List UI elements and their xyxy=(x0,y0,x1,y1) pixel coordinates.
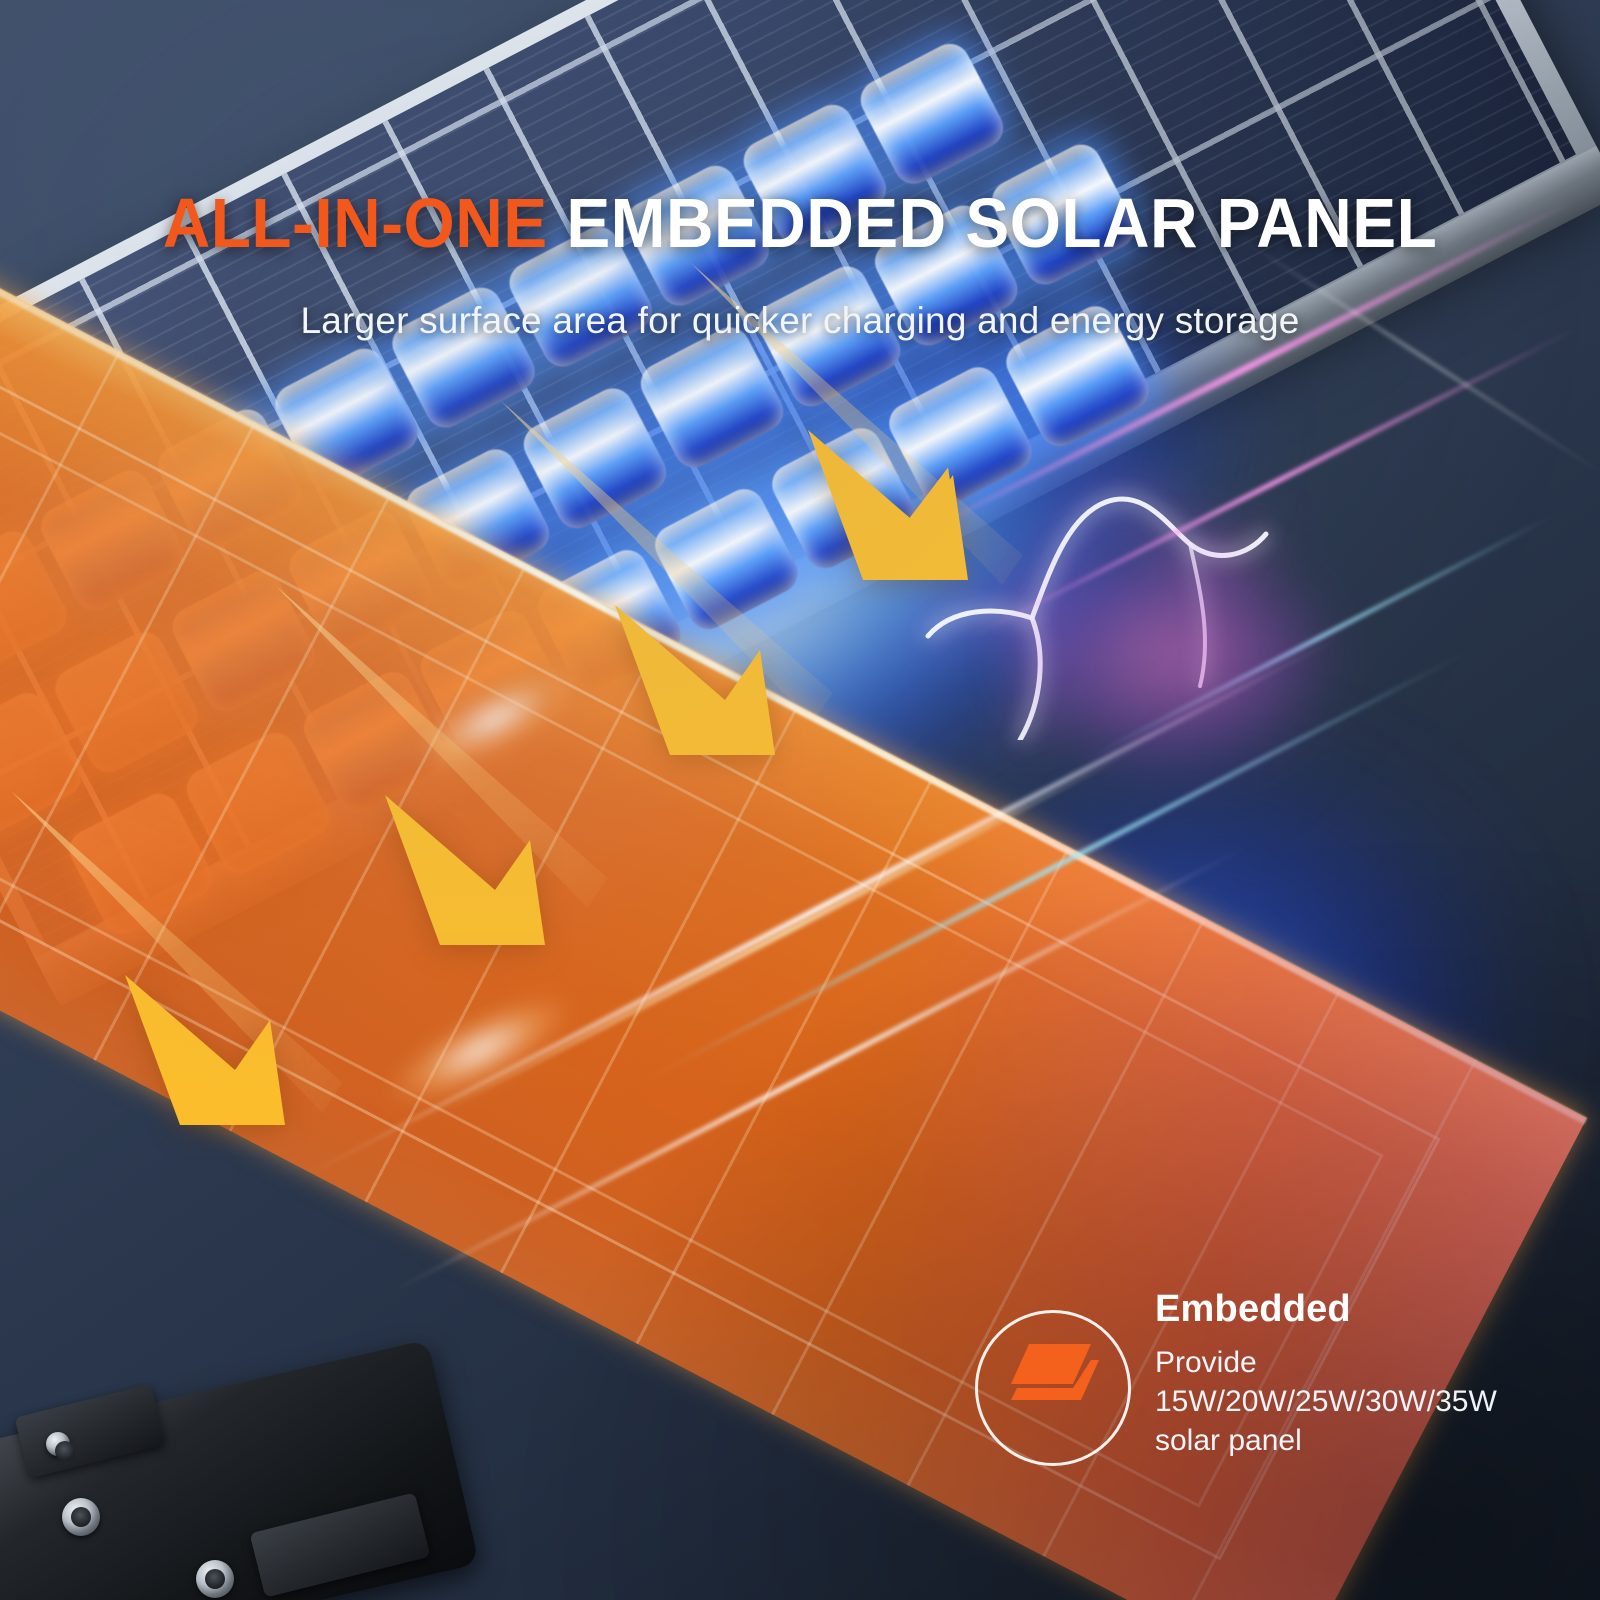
absorption-arrow-3 xyxy=(385,785,635,1000)
badge-title: Embedded xyxy=(1155,1288,1575,1331)
magenta-glow xyxy=(1010,540,1330,770)
product-marketing-image: ALL-IN-ONE EMBEDDED SOLAR PANEL Larger s… xyxy=(0,0,1600,1600)
badge-text-block: Embedded Provide 15W/20W/25W/30W/35W sol… xyxy=(1155,1288,1575,1460)
absorption-arrow-4 xyxy=(125,965,375,1180)
headline-accent: ALL-IN-ONE xyxy=(163,184,548,262)
hex-bolt-2 xyxy=(196,1560,234,1598)
page-subtitle: Larger surface area for quicker charging… xyxy=(0,300,1600,342)
badge-desc-line: Provide xyxy=(1155,1343,1575,1382)
feature-badge: Embedded Provide 15W/20W/25W/30W/35W sol… xyxy=(975,1288,1575,1498)
hex-bolt-3 xyxy=(46,1432,70,1456)
badge-desc-line: solar panel xyxy=(1155,1421,1575,1460)
absorption-arrow-2 xyxy=(615,595,865,810)
headline-main: EMBEDDED SOLAR PANEL xyxy=(566,184,1437,262)
hex-bolt-1 xyxy=(62,1498,100,1536)
stacked-solar-layers-icon xyxy=(1003,1340,1099,1422)
badge-description: Provide 15W/20W/25W/30W/35W solar panel xyxy=(1155,1343,1575,1460)
badge-desc-line: 15W/20W/25W/30W/35W xyxy=(1155,1382,1575,1421)
page-title: ALL-IN-ONE EMBEDDED SOLAR PANEL xyxy=(48,188,1552,258)
